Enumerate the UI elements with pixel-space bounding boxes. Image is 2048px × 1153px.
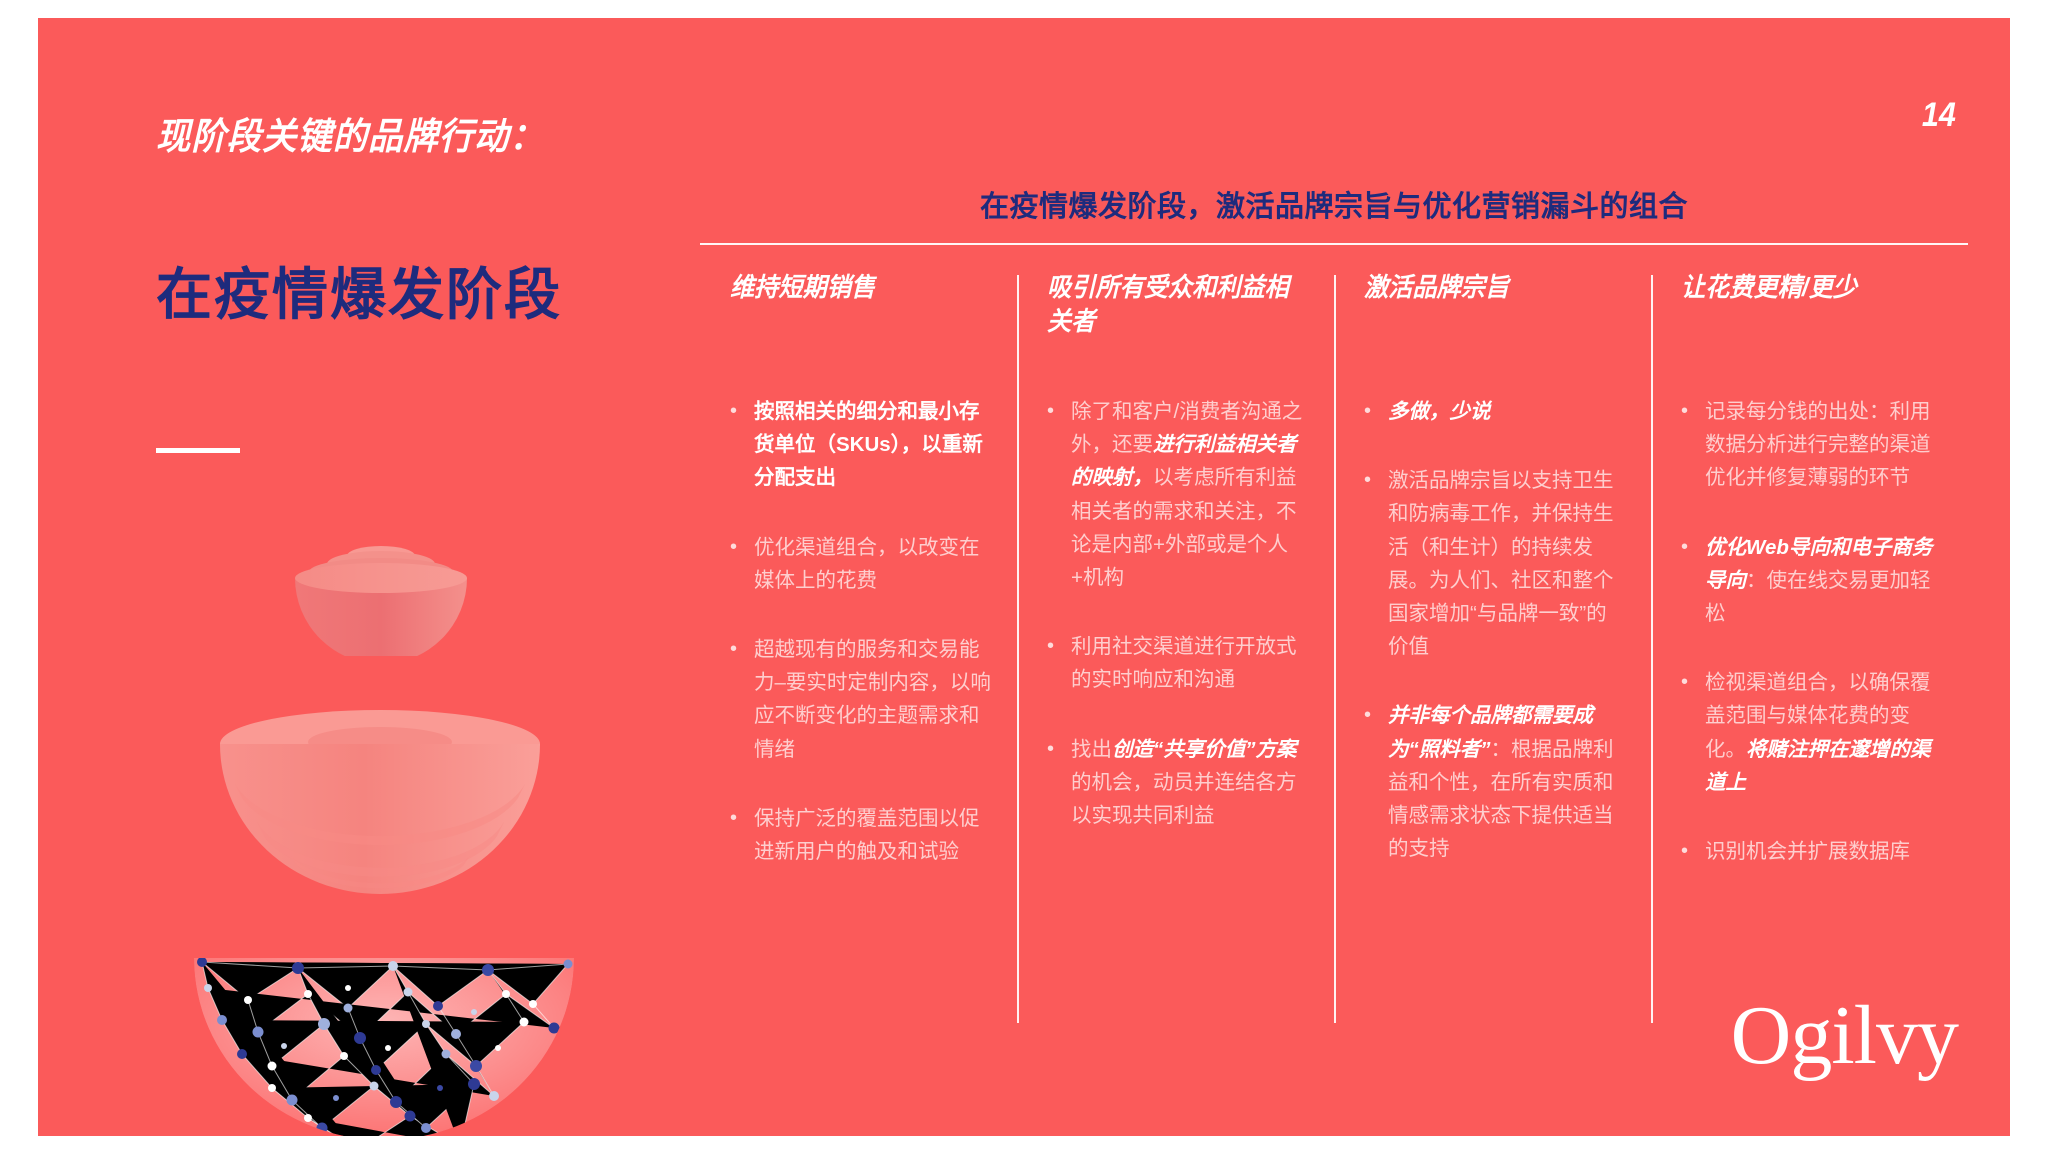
bullet-text: 激活品牌宗旨以支持卫生和防病毒工作，并保持生活（和生计）的持续发展。为人们、社区… bbox=[1388, 464, 1625, 663]
column-title: 激活品牌宗旨 bbox=[1364, 271, 1607, 343]
bullet-item: •检视渠道组合，以确保覆盖范围与媒体花费的变化。将赌注押在邃增的渠道上 bbox=[1681, 666, 1942, 799]
bullet-text: 除了和客户/消费者沟通之外，还要进行利益相关者的映射，以考虑所有利益相关者的需求… bbox=[1071, 395, 1308, 594]
text-segment-dim: 超越现有的服务和交易能力–要实时定制内容，以响应不断变化的主题需求和情绪 bbox=[754, 638, 991, 761]
mid-bowl-icon bbox=[213, 706, 548, 896]
bullet-item: •多做，少说 bbox=[1364, 395, 1625, 428]
eyebrow-text: 现阶段关键的品牌行动： bbox=[156, 106, 545, 160]
ogilvy-logo: Ogilvy bbox=[1731, 994, 1958, 1078]
bullet-text: 超越现有的服务和交易能力–要实时定制内容，以响应不断变化的主题需求和情绪 bbox=[754, 633, 991, 766]
bullet-item: •除了和客户/消费者沟通之外，还要进行利益相关者的映射，以考虑所有利益相关者的需… bbox=[1047, 395, 1308, 594]
bullet-text: 利用社交渠道进行开放式的实时响应和沟通 bbox=[1071, 630, 1308, 696]
bullet-dot-icon: • bbox=[730, 531, 754, 597]
bullet-item: •并非每个品牌都需要成为“照料者”：根据品牌利益和个性，在所有实质和情感需求状态… bbox=[1364, 699, 1625, 865]
bullet-text: 按照相关的细分和最小存货单位（SKUs），以重新分配支出 bbox=[754, 395, 991, 495]
bullet-item: •利用社交渠道进行开放式的实时响应和沟通 bbox=[1047, 630, 1308, 696]
bullet-dot-icon: • bbox=[1047, 733, 1071, 833]
column-3: 激活品牌宗旨•多做，少说•激活品牌宗旨以支持卫生和防病毒工作，并保持生活（和生计… bbox=[1334, 271, 1651, 1111]
slide-canvas: 现阶段关键的品牌行动： 在疫情爆发阶段 14 bbox=[38, 18, 2010, 1136]
columns-container: 维持短期销售•按照相关的细分和最小存货单位（SKUs），以重新分配支出•优化渠道… bbox=[700, 271, 1968, 1111]
bullet-text: 识别机会并扩展数据库 bbox=[1705, 835, 1942, 868]
bullet-text: 保持广泛的覆盖范围以促进新用户的触及和试验 bbox=[754, 802, 991, 868]
bullet-item: •保持广泛的覆盖范围以促进新用户的触及和试验 bbox=[730, 802, 991, 868]
bullet-item: •超越现有的服务和交易能力–要实时定制内容，以响应不断变化的主题需求和情绪 bbox=[730, 633, 991, 766]
bullet-item: •优化渠道组合，以改变在媒体上的花费 bbox=[730, 531, 991, 597]
column-title: 吸引所有受众和利益相关者 bbox=[1047, 271, 1290, 343]
bullet-text: 多做，少说 bbox=[1388, 395, 1625, 428]
column-2: 吸引所有受众和利益相关者•除了和客户/消费者沟通之外，还要进行利益相关者的映射，… bbox=[1017, 271, 1334, 1111]
stacked-bowls-illustration bbox=[158, 538, 618, 1058]
bullet-dot-icon: • bbox=[730, 802, 754, 868]
text-segment-dim: 利用社交渠道进行开放式的实时响应和沟通 bbox=[1071, 635, 1297, 691]
panel-heading: 在疫情爆发阶段，激活品牌宗旨与优化营销漏斗的组合 bbox=[700, 183, 1968, 243]
text-segment-em: 创造“共享价值”方案 bbox=[1112, 738, 1297, 761]
bullet-dot-icon: • bbox=[1681, 835, 1705, 868]
text-segment-dim: 识别机会并扩展数据库 bbox=[1705, 840, 1910, 863]
bullet-text: 检视渠道组合，以确保覆盖范围与媒体花费的变化。将赌注押在邃增的渠道上 bbox=[1705, 666, 1942, 799]
text-segment-dim: 保持广泛的覆盖范围以促进新用户的触及和试验 bbox=[754, 807, 980, 863]
text-segment-em: 多做，少说 bbox=[1388, 400, 1491, 423]
panel-divider bbox=[700, 243, 1968, 245]
content-panel: 在疫情爆发阶段，激活品牌宗旨与优化营销漏斗的组合 维持短期销售•按照相关的细分和… bbox=[700, 183, 1968, 1093]
bullet-item: •按照相关的细分和最小存货单位（SKUs），以重新分配支出 bbox=[730, 395, 991, 495]
page-number: 14 bbox=[1922, 96, 1956, 135]
column-1: 维持短期销售•按照相关的细分和最小存货单位（SKUs），以重新分配支出•优化渠道… bbox=[700, 271, 1017, 1111]
bullet-dot-icon: • bbox=[1047, 630, 1071, 696]
bullet-text: 并非每个品牌都需要成为“照料者”：根据品牌利益和个性，在所有实质和情感需求状态下… bbox=[1388, 699, 1625, 865]
page-title: 在疫情爆发阶段 bbox=[156, 250, 562, 331]
bullet-item: •找出创造“共享价值”方案的机会，动员并连结各方以实现共同利益 bbox=[1047, 733, 1308, 833]
bullet-dot-icon: • bbox=[1681, 531, 1705, 631]
bullet-dot-icon: • bbox=[1681, 666, 1705, 799]
bullet-item: •记录每分钱的出处：利用数据分析进行完整的渠道优化并修复薄弱的环节 bbox=[1681, 395, 1942, 495]
network-mesh-bowl-icon bbox=[188, 928, 580, 1136]
bullet-dot-icon: • bbox=[1364, 395, 1388, 428]
column-title: 维持短期销售 bbox=[730, 271, 973, 343]
text-segment-dim: 的机会，动员并连结各方以实现共同利益 bbox=[1071, 771, 1297, 827]
text-segment-dim: 记录每分钱的出处：利用数据分析进行完整的渠道优化并修复薄弱的环节 bbox=[1705, 400, 1931, 489]
bullet-item: •优化Web导向和电子商务导向：使在线交易更加轻松 bbox=[1681, 531, 1942, 631]
bullet-dot-icon: • bbox=[1681, 395, 1705, 495]
column-4: 让花费更精/更少•记录每分钱的出处：利用数据分析进行完整的渠道优化并修复薄弱的环… bbox=[1651, 271, 1968, 1111]
small-top-bowl-icon bbox=[276, 538, 486, 656]
bullet-dot-icon: • bbox=[1364, 699, 1388, 865]
bullet-text: 优化Web导向和电子商务导向：使在线交易更加轻松 bbox=[1705, 531, 1942, 631]
text-segment-dim: 找出 bbox=[1071, 738, 1112, 761]
bullet-dot-icon: • bbox=[1047, 395, 1071, 594]
bullet-item: •激活品牌宗旨以支持卫生和防病毒工作，并保持生活（和生计）的持续发展。为人们、社… bbox=[1364, 464, 1625, 663]
bullet-text: 找出创造“共享价值”方案的机会，动员并连结各方以实现共同利益 bbox=[1071, 733, 1308, 833]
text-segment-strong: 按照相关的细分和最小存货单位（SKUs），以重新分配支出 bbox=[754, 400, 983, 489]
bullet-item: •识别机会并扩展数据库 bbox=[1681, 835, 1942, 868]
text-segment-dim: 激活品牌宗旨以支持卫生和防病毒工作，并保持生活（和生计）的持续发展。为人们、社区… bbox=[1388, 469, 1614, 658]
title-dash-divider bbox=[156, 448, 240, 453]
column-title: 让花费更精/更少 bbox=[1681, 271, 1924, 343]
bullet-text: 优化渠道组合，以改变在媒体上的花费 bbox=[754, 531, 991, 597]
bullet-dot-icon: • bbox=[730, 395, 754, 495]
bullet-text: 记录每分钱的出处：利用数据分析进行完整的渠道优化并修复薄弱的环节 bbox=[1705, 395, 1942, 495]
text-segment-dim: 优化渠道组合，以改变在媒体上的花费 bbox=[754, 536, 980, 592]
bullet-dot-icon: • bbox=[730, 633, 754, 766]
bullet-dot-icon: • bbox=[1364, 464, 1388, 663]
